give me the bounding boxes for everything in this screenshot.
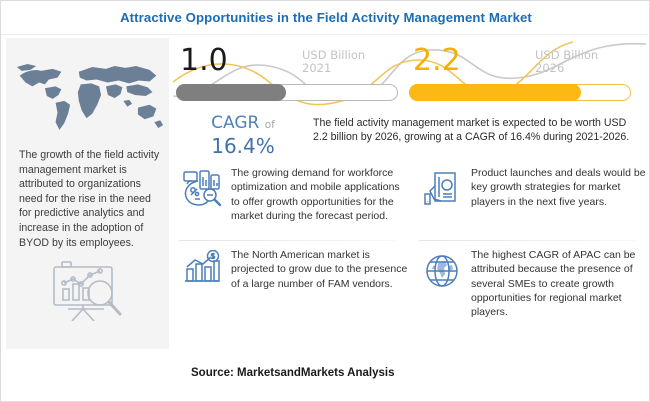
cagr-block: CAGR of 16.4% — [183, 114, 303, 157]
page-title: Attractive Opportunities in the Field Ac… — [120, 10, 532, 25]
title-bar: Attractive Opportunities in the Field Ac… — [1, 1, 650, 35]
stats-band: 1.0 USD Billion 2021 2.2 USD Billion 202… — [173, 38, 646, 163]
bullet-text-workforce: The growing demand for workforce optimiz… — [231, 166, 409, 223]
stat-value-2021: 1.0 — [180, 44, 228, 78]
presentation-chart-magnifier-icon — [50, 259, 128, 321]
cagr-of-label: of — [265, 119, 275, 131]
source-label: Source: MarketsandMarkets Analysis — [191, 367, 394, 379]
bullet-item-north-america: The North American market is projected t… — [173, 246, 411, 328]
stat-value-2026: 2.2 — [413, 44, 461, 78]
stat-block-2026: 2.2 USD Billion 2026 — [409, 44, 634, 114]
analytics-mobile-icon — [181, 168, 225, 212]
bullet-item-apac: The highest CAGR of APAC can be attribut… — [413, 246, 650, 328]
stat-unit-label-2021: USD Billion — [302, 49, 365, 62]
infographic-root: Attractive Opportunities in the Field Ac… — [0, 0, 650, 402]
bar-chart-dollar-icon — [181, 250, 225, 294]
stat-unit-label-2026: USD Billion — [535, 49, 598, 62]
stat-year-2026: 2026 — [535, 62, 598, 75]
bullet-divider — [179, 240, 395, 241]
cagr-value: 16.4% — [183, 135, 303, 157]
cagr-label: CAGR — [211, 113, 259, 133]
stat-unit-2021: USD Billion 2021 — [302, 49, 365, 74]
stat-block-2021: 1.0 USD Billion 2021 — [176, 44, 401, 114]
bullet-text-north-america: The North American market is projected t… — [231, 248, 409, 291]
bullet-text-product-launches: Product launches and deals would be key … — [471, 166, 649, 209]
market-description: The field activity management market is … — [313, 116, 633, 145]
bullet-item-product-launches: Product launches and deals would be key … — [413, 164, 650, 246]
bullet-text-apac: The highest CAGR of APAC can be attribut… — [471, 248, 649, 319]
progress-bar-fill-2026 — [409, 84, 581, 101]
progress-bar-2021 — [176, 84, 398, 101]
bullet-grid: The growing demand for workforce optimiz… — [173, 164, 646, 349]
stat-unit-2026: USD Billion 2026 — [535, 49, 598, 74]
left-panel-paragraph: The growth of the field activity managem… — [19, 148, 165, 250]
progress-bar-fill-2021 — [176, 84, 286, 101]
world-map-icon — [11, 50, 166, 142]
progress-bar-2026 — [409, 84, 631, 101]
globe-icon — [421, 250, 465, 294]
bullet-divider — [419, 240, 635, 241]
left-panel: The growth of the field activity managem… — [6, 38, 169, 349]
deal-money-handshake-icon — [421, 168, 465, 212]
cagr-label-row: CAGR of — [183, 114, 303, 135]
stat-year-2021: 2021 — [302, 62, 365, 75]
bullet-item-workforce: The growing demand for workforce optimiz… — [173, 164, 411, 246]
